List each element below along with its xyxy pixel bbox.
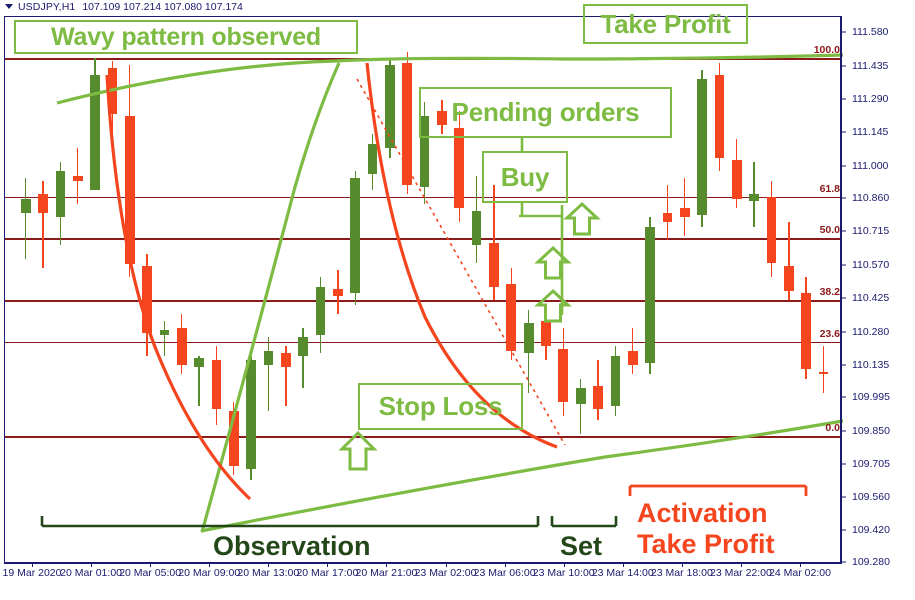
candle-body <box>73 176 83 181</box>
fibonacci-level-label: 50.0 <box>806 224 840 236</box>
price-tick <box>841 65 846 66</box>
time-tick-label: 20 Mar 17:00 <box>296 567 358 579</box>
price-tick-label: 111.000 <box>852 160 888 172</box>
annotation-stop-loss-label: Stop Loss <box>379 391 503 422</box>
fibonacci-level-label: 0.0 <box>806 422 840 434</box>
candle-body <box>697 79 707 215</box>
up-arrow-icon-order-2 <box>535 245 571 281</box>
price-tick-label: 109.705 <box>852 458 890 470</box>
price-tick <box>841 365 846 366</box>
candle-body <box>142 266 152 333</box>
price-tick <box>841 298 846 299</box>
candle-wick <box>164 321 165 356</box>
price-tick <box>841 231 846 232</box>
time-tick-label: 20 Mar 09:00 <box>178 567 240 579</box>
price-tick <box>841 264 846 265</box>
annotation-wavy-pattern-label: Wavy pattern observed <box>51 23 321 52</box>
set-text: Set <box>560 531 602 561</box>
candle-body <box>454 128 464 209</box>
candle-body <box>108 68 118 114</box>
candle-body <box>264 351 274 365</box>
candle-body <box>229 411 239 466</box>
annotation-buy: Buy <box>482 151 568 203</box>
candle-body <box>281 353 291 367</box>
candle-body <box>368 144 378 174</box>
price-tick-label: 110.570 <box>852 259 889 271</box>
candle-body <box>56 171 66 217</box>
candle-wick <box>25 178 26 259</box>
candle-body <box>749 194 759 201</box>
bracket-label-activation: Activation Take Profit <box>637 498 775 560</box>
candle-body <box>558 349 568 402</box>
observation-text: Observation <box>213 531 371 561</box>
price-tick-label: 109.420 <box>852 524 890 536</box>
price-tick-label: 111.580 <box>852 26 888 38</box>
price-tick-label: 110.715 <box>852 225 889 237</box>
candle-body <box>784 266 794 291</box>
candle-body <box>663 213 673 222</box>
price-tick <box>841 98 846 99</box>
price-tick <box>841 32 846 33</box>
fibonacci-level-line <box>5 300 841 301</box>
bracket-label-set: Set <box>560 531 602 562</box>
price-tick <box>841 397 846 398</box>
fibonacci-level-line <box>5 58 841 59</box>
price-tick <box>841 464 846 465</box>
time-axis-line <box>4 562 842 564</box>
candle-body <box>819 372 829 374</box>
time-tick-label: 23 Mar 06:00 <box>474 567 536 579</box>
price-tick <box>841 430 846 431</box>
candle-body <box>125 116 135 263</box>
activation-text: Activation <box>637 498 775 529</box>
fibonacci-level-line <box>5 436 841 437</box>
price-tick-label: 111.435 <box>852 60 888 72</box>
annotation-take-profit: Take Profit <box>583 4 748 44</box>
candle-body <box>350 178 360 293</box>
price-tick-label: 111.145 <box>852 126 888 138</box>
up-arrow-icon-order-1 <box>564 201 600 237</box>
time-tick-label: 19 Mar 2020 <box>3 567 62 579</box>
candle-body <box>732 160 742 199</box>
up-arrow-icon-stop-loss <box>339 430 377 472</box>
candle-body <box>524 323 534 353</box>
time-tick-label: 20 Mar 13:00 <box>237 567 299 579</box>
time-tick-label: 23 Mar 14:00 <box>592 567 654 579</box>
price-tick <box>841 165 846 166</box>
price-tick <box>841 331 846 332</box>
time-tick-label: 24 Mar 02:00 <box>769 567 831 579</box>
price-tick-label: 110.860 <box>852 192 889 204</box>
time-tick-label: 23 Mar 18:00 <box>651 567 713 579</box>
candle-body <box>38 194 48 212</box>
price-tick-label: 109.280 <box>852 556 890 568</box>
candle-body <box>298 337 308 355</box>
candle-body <box>680 208 690 217</box>
candle-body <box>402 63 412 185</box>
price-tick-label: 111.290 <box>852 93 888 105</box>
time-tick-label: 20 Mar 05:00 <box>119 567 181 579</box>
symbol-label: USDJPY,H1 <box>18 1 75 13</box>
activation-take-profit-text: Take Profit <box>637 529 775 560</box>
candle-body <box>576 388 586 404</box>
candle-body <box>160 330 170 335</box>
candle-body <box>316 287 326 335</box>
ohlc-values: 107.109 107.214 107.080 107.174 <box>82 1 243 13</box>
candle-body <box>194 358 204 367</box>
candle-body <box>246 360 256 468</box>
time-tick-label: 20 Mar 01:00 <box>60 567 122 579</box>
price-tick-label: 110.135 <box>852 359 889 371</box>
annotation-pending-orders: Pending orders <box>419 87 672 138</box>
price-tick <box>841 529 846 530</box>
time-tick-label: 23 Mar 02:00 <box>415 567 477 579</box>
candle-body <box>506 284 516 351</box>
annotation-take-profit-label: Take Profit <box>600 9 730 40</box>
caret-down-icon[interactable] <box>5 4 13 9</box>
time-tick-label: 23 Mar 22:00 <box>710 567 772 579</box>
candle-wick <box>268 337 269 411</box>
annotation-pending-orders-label: Pending orders <box>452 97 640 128</box>
price-tick-label: 109.995 <box>852 391 890 403</box>
candle-body <box>177 328 187 365</box>
fibonacci-level-label: 23.6 <box>806 328 840 340</box>
candle-body <box>593 386 603 409</box>
annotation-stop-loss: Stop Loss <box>358 383 523 430</box>
candle-body <box>385 65 395 148</box>
price-tick-label: 110.280 <box>852 326 889 338</box>
annotation-wavy-pattern: Wavy pattern observed <box>14 20 358 54</box>
candle-body <box>611 356 621 407</box>
price-tick-label: 109.850 <box>852 425 890 437</box>
bracket-label-observation: Observation <box>213 531 371 562</box>
chart-header: USDJPY,H1107.109 107.214 107.080 107.174 <box>0 0 915 15</box>
time-tick-label: 20 Mar 21:00 <box>356 567 418 579</box>
chart-screenshot: USDJPY,H1107.109 107.214 107.080 107.174… <box>0 0 915 600</box>
candle-body <box>90 75 100 190</box>
candle-body <box>472 211 482 246</box>
candle-wick <box>823 346 824 392</box>
fibonacci-level-label: 61.8 <box>806 183 840 195</box>
annotation-buy-label: Buy <box>501 162 550 193</box>
candle-body <box>21 199 31 213</box>
fibonacci-level-label: 38.2 <box>806 286 840 298</box>
candle-body <box>628 351 638 365</box>
time-tick-label: 23 Mar 10:00 <box>533 567 595 579</box>
candle-body <box>645 227 655 363</box>
candle-body <box>333 289 343 296</box>
price-tick <box>841 497 846 498</box>
candle-wick <box>684 178 685 236</box>
fibonacci-level-label: 100.0 <box>806 44 840 56</box>
price-tick-label: 109.560 <box>852 491 890 503</box>
price-tick <box>841 562 846 563</box>
candle-body <box>212 360 222 408</box>
price-tick <box>841 132 846 133</box>
candle-body <box>489 243 499 287</box>
up-arrow-icon-order-3 <box>535 288 571 324</box>
candle-body <box>715 75 725 158</box>
price-tick <box>841 198 846 199</box>
fibonacci-level-line <box>5 342 841 343</box>
price-tick-label: 110.425 <box>852 292 889 304</box>
candle-body <box>541 321 551 346</box>
candle-body <box>767 197 777 264</box>
